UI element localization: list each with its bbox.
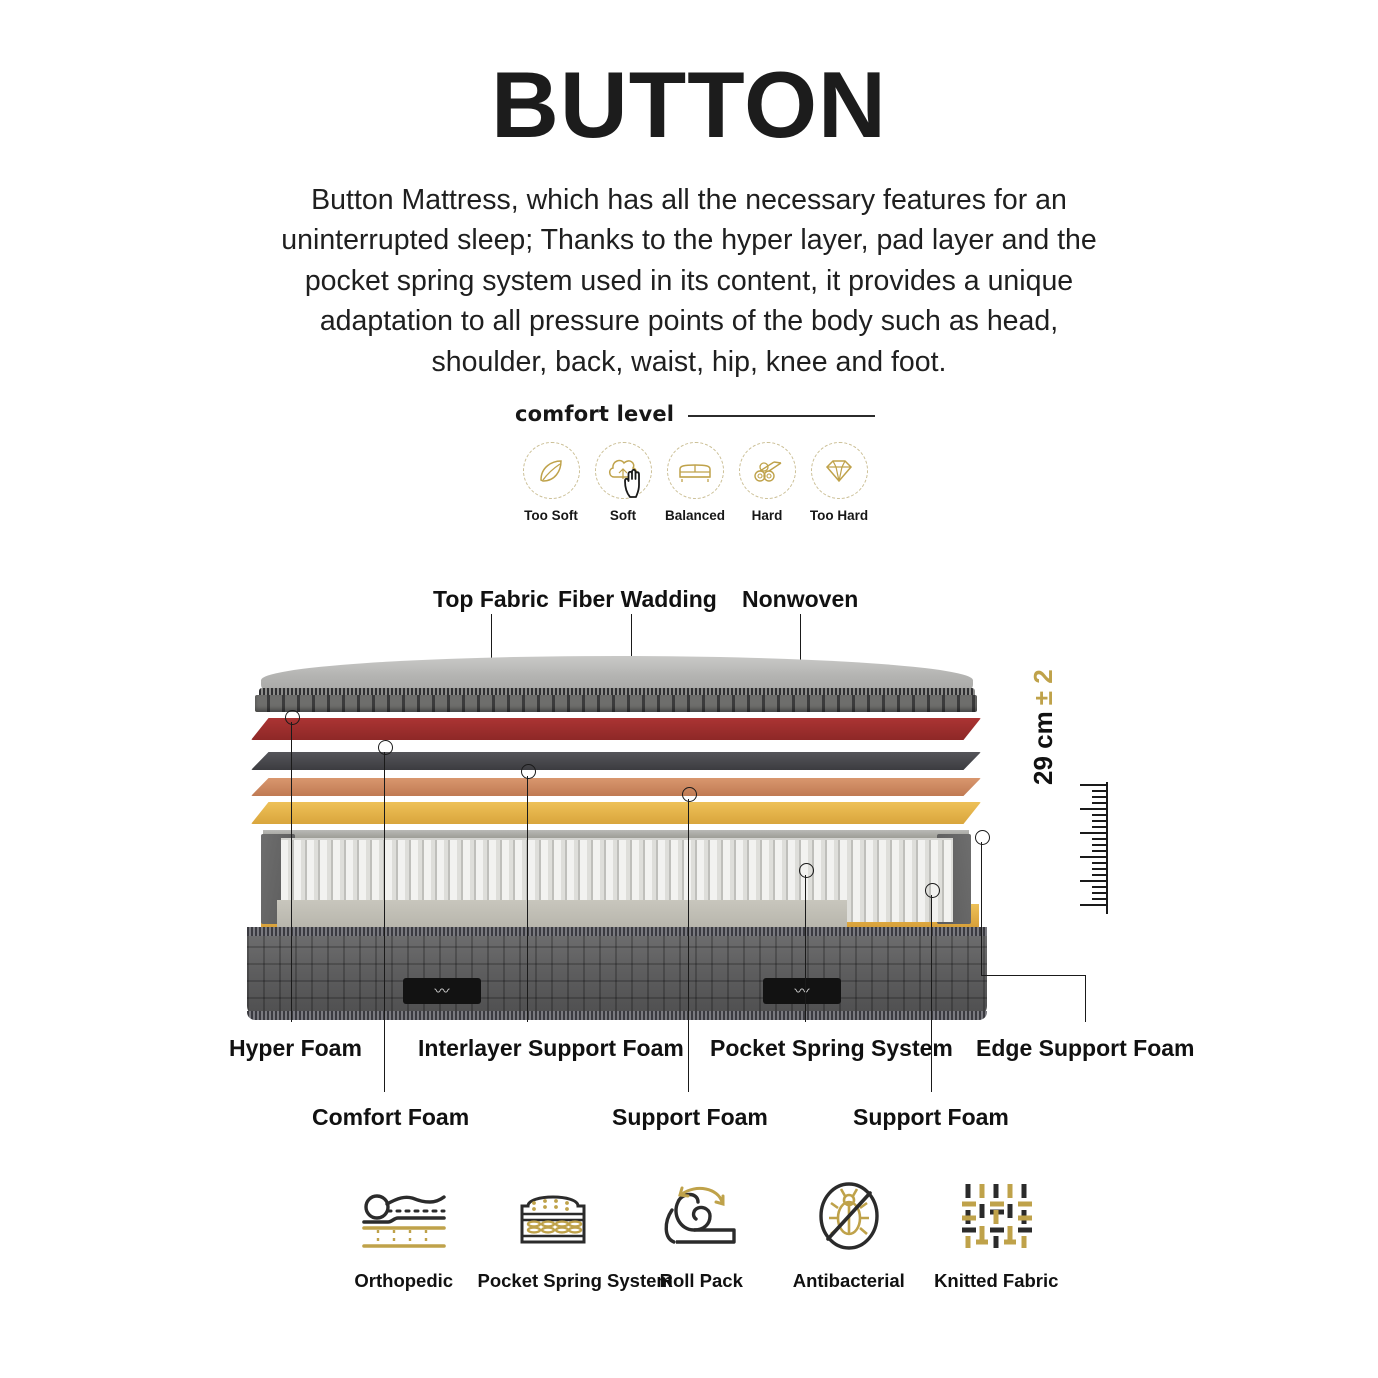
feature-knitted-fabric: Knitted Fabric [923, 1168, 1071, 1292]
feature-list: Orthopedic [330, 1168, 1070, 1292]
feature-label: Antibacterial [775, 1270, 923, 1292]
knitted-fabric-icon-wrap [923, 1168, 1071, 1264]
marker-support-foam-lower [925, 883, 940, 898]
leader-edge-support-h [981, 975, 1086, 976]
too-hard-circle [811, 442, 868, 499]
bed-icon [676, 457, 714, 485]
product-description: Button Mattress, which has all the neces… [262, 180, 1116, 382]
height-measurement: 29 cm ± 2 [1028, 655, 1059, 785]
leader-edge-support-b [1085, 975, 1086, 1022]
height-value: 29 cm [1028, 711, 1059, 785]
marker-comfort-foam [378, 740, 393, 755]
leader-interlayer-support-foam [527, 776, 528, 1022]
leader-edge-support-a [981, 842, 982, 976]
marker-edge-support-foam [975, 830, 990, 845]
comfort-option-balanced[interactable]: Balanced [659, 442, 731, 523]
label-nonwoven: Nonwoven [742, 586, 858, 613]
comfort-level-scale: Too Soft Soft [515, 442, 875, 523]
ruler-spine [1106, 782, 1108, 914]
comfort-option-soft[interactable]: Soft [587, 442, 659, 523]
feature-label: Pocket Spring System [478, 1270, 628, 1292]
label-hyper-foam: Hyper Foam [229, 1035, 362, 1062]
marker-pocket-spring-system [799, 863, 814, 878]
mattress-cross-section: 〰 〰 [243, 648, 988, 1000]
marker-interlayer-support-foam [521, 764, 536, 779]
comfort-option-label: Balanced [659, 508, 731, 523]
height-ruler [1062, 782, 1108, 914]
leader-support-foam-lower [931, 895, 932, 1092]
layer-top-fabric [261, 656, 973, 692]
balanced-circle [667, 442, 724, 499]
orthopedic-icon [358, 1180, 450, 1252]
comfort-level-section: comfort level Too Soft [515, 402, 875, 523]
layer-comfort-foam [251, 752, 981, 770]
leaf-icon [534, 454, 568, 488]
antibacterial-icon [809, 1178, 889, 1254]
height-tolerance: ± 2 [1028, 669, 1059, 705]
label-support-foam-mid: Support Foam [612, 1104, 768, 1131]
comfort-level-title: comfort level [515, 402, 674, 426]
layer-hyper-foam [251, 718, 981, 740]
handle-right[interactable]: 〰 [763, 978, 841, 1004]
roll-pack-icon [656, 1180, 746, 1252]
comfort-option-label: Too Soft [515, 508, 587, 523]
knitted-fabric-icon [956, 1178, 1036, 1254]
antibacterial-icon-wrap [775, 1168, 923, 1264]
marker-hyper-foam [285, 710, 300, 725]
comfort-level-rule [688, 415, 875, 417]
label-comfort-foam: Comfort Foam [312, 1104, 469, 1131]
leader-hyper-foam [291, 722, 292, 1022]
layer-support-foam-upper [251, 802, 981, 824]
label-support-foam-right: Support Foam [853, 1104, 1009, 1131]
label-pocket-spring-system: Pocket Spring System [710, 1035, 953, 1062]
leader-support-foam-upper [688, 799, 689, 1092]
label-interlayer-support-foam: Interlayer Support Foam [418, 1035, 684, 1062]
cursor-hand-icon [622, 465, 648, 499]
soft-circle [595, 442, 652, 499]
too-soft-circle [523, 442, 580, 499]
comfort-level-header: comfort level [515, 402, 875, 426]
comfort-option-too-hard[interactable]: Too Hard [803, 442, 875, 523]
comfort-option-label: Soft [587, 508, 659, 523]
pocket-spring-icon-wrap [478, 1168, 628, 1264]
layer-interlayer-support-foam [251, 778, 981, 796]
marker-support-foam-upper [682, 787, 697, 802]
label-top-fabric: Top Fabric [433, 586, 549, 613]
label-edge-support-foam: Edge Support Foam [976, 1035, 1195, 1062]
comfort-option-label: Hard [731, 508, 803, 523]
comfort-option-too-soft[interactable]: Too Soft [515, 442, 587, 523]
handle-left[interactable]: 〰 [403, 978, 481, 1004]
orthopedic-icon-wrap [330, 1168, 478, 1264]
layer-fiber-wadding [255, 695, 977, 712]
comfort-option-label: Too Hard [803, 508, 875, 523]
leader-comfort-foam [384, 752, 385, 1092]
label-fiber-wadding: Fiber Wadding [558, 586, 717, 613]
logs-icon [750, 456, 784, 486]
mattress-base-body [247, 930, 987, 1016]
feature-label: Roll Pack [628, 1270, 776, 1292]
feature-orthopedic: Orthopedic [330, 1168, 478, 1292]
diamond-icon [822, 456, 856, 486]
page-title: BUTTON [0, 58, 1378, 152]
pocket-spring-icon [510, 1180, 596, 1252]
feature-label: Knitted Fabric [923, 1270, 1071, 1292]
comfort-option-hard[interactable]: Hard [731, 442, 803, 523]
feature-antibacterial: Antibacterial [775, 1168, 923, 1292]
feature-roll-pack: Roll Pack [628, 1168, 776, 1292]
feature-label: Orthopedic [330, 1270, 478, 1292]
product-infographic: BUTTON Button Mattress, which has all th… [0, 0, 1378, 1378]
leader-pocket-spring-system [805, 875, 806, 1022]
hard-circle [739, 442, 796, 499]
feature-pocket-spring-system: Pocket Spring System [478, 1168, 628, 1292]
roll-pack-icon-wrap [628, 1168, 776, 1264]
